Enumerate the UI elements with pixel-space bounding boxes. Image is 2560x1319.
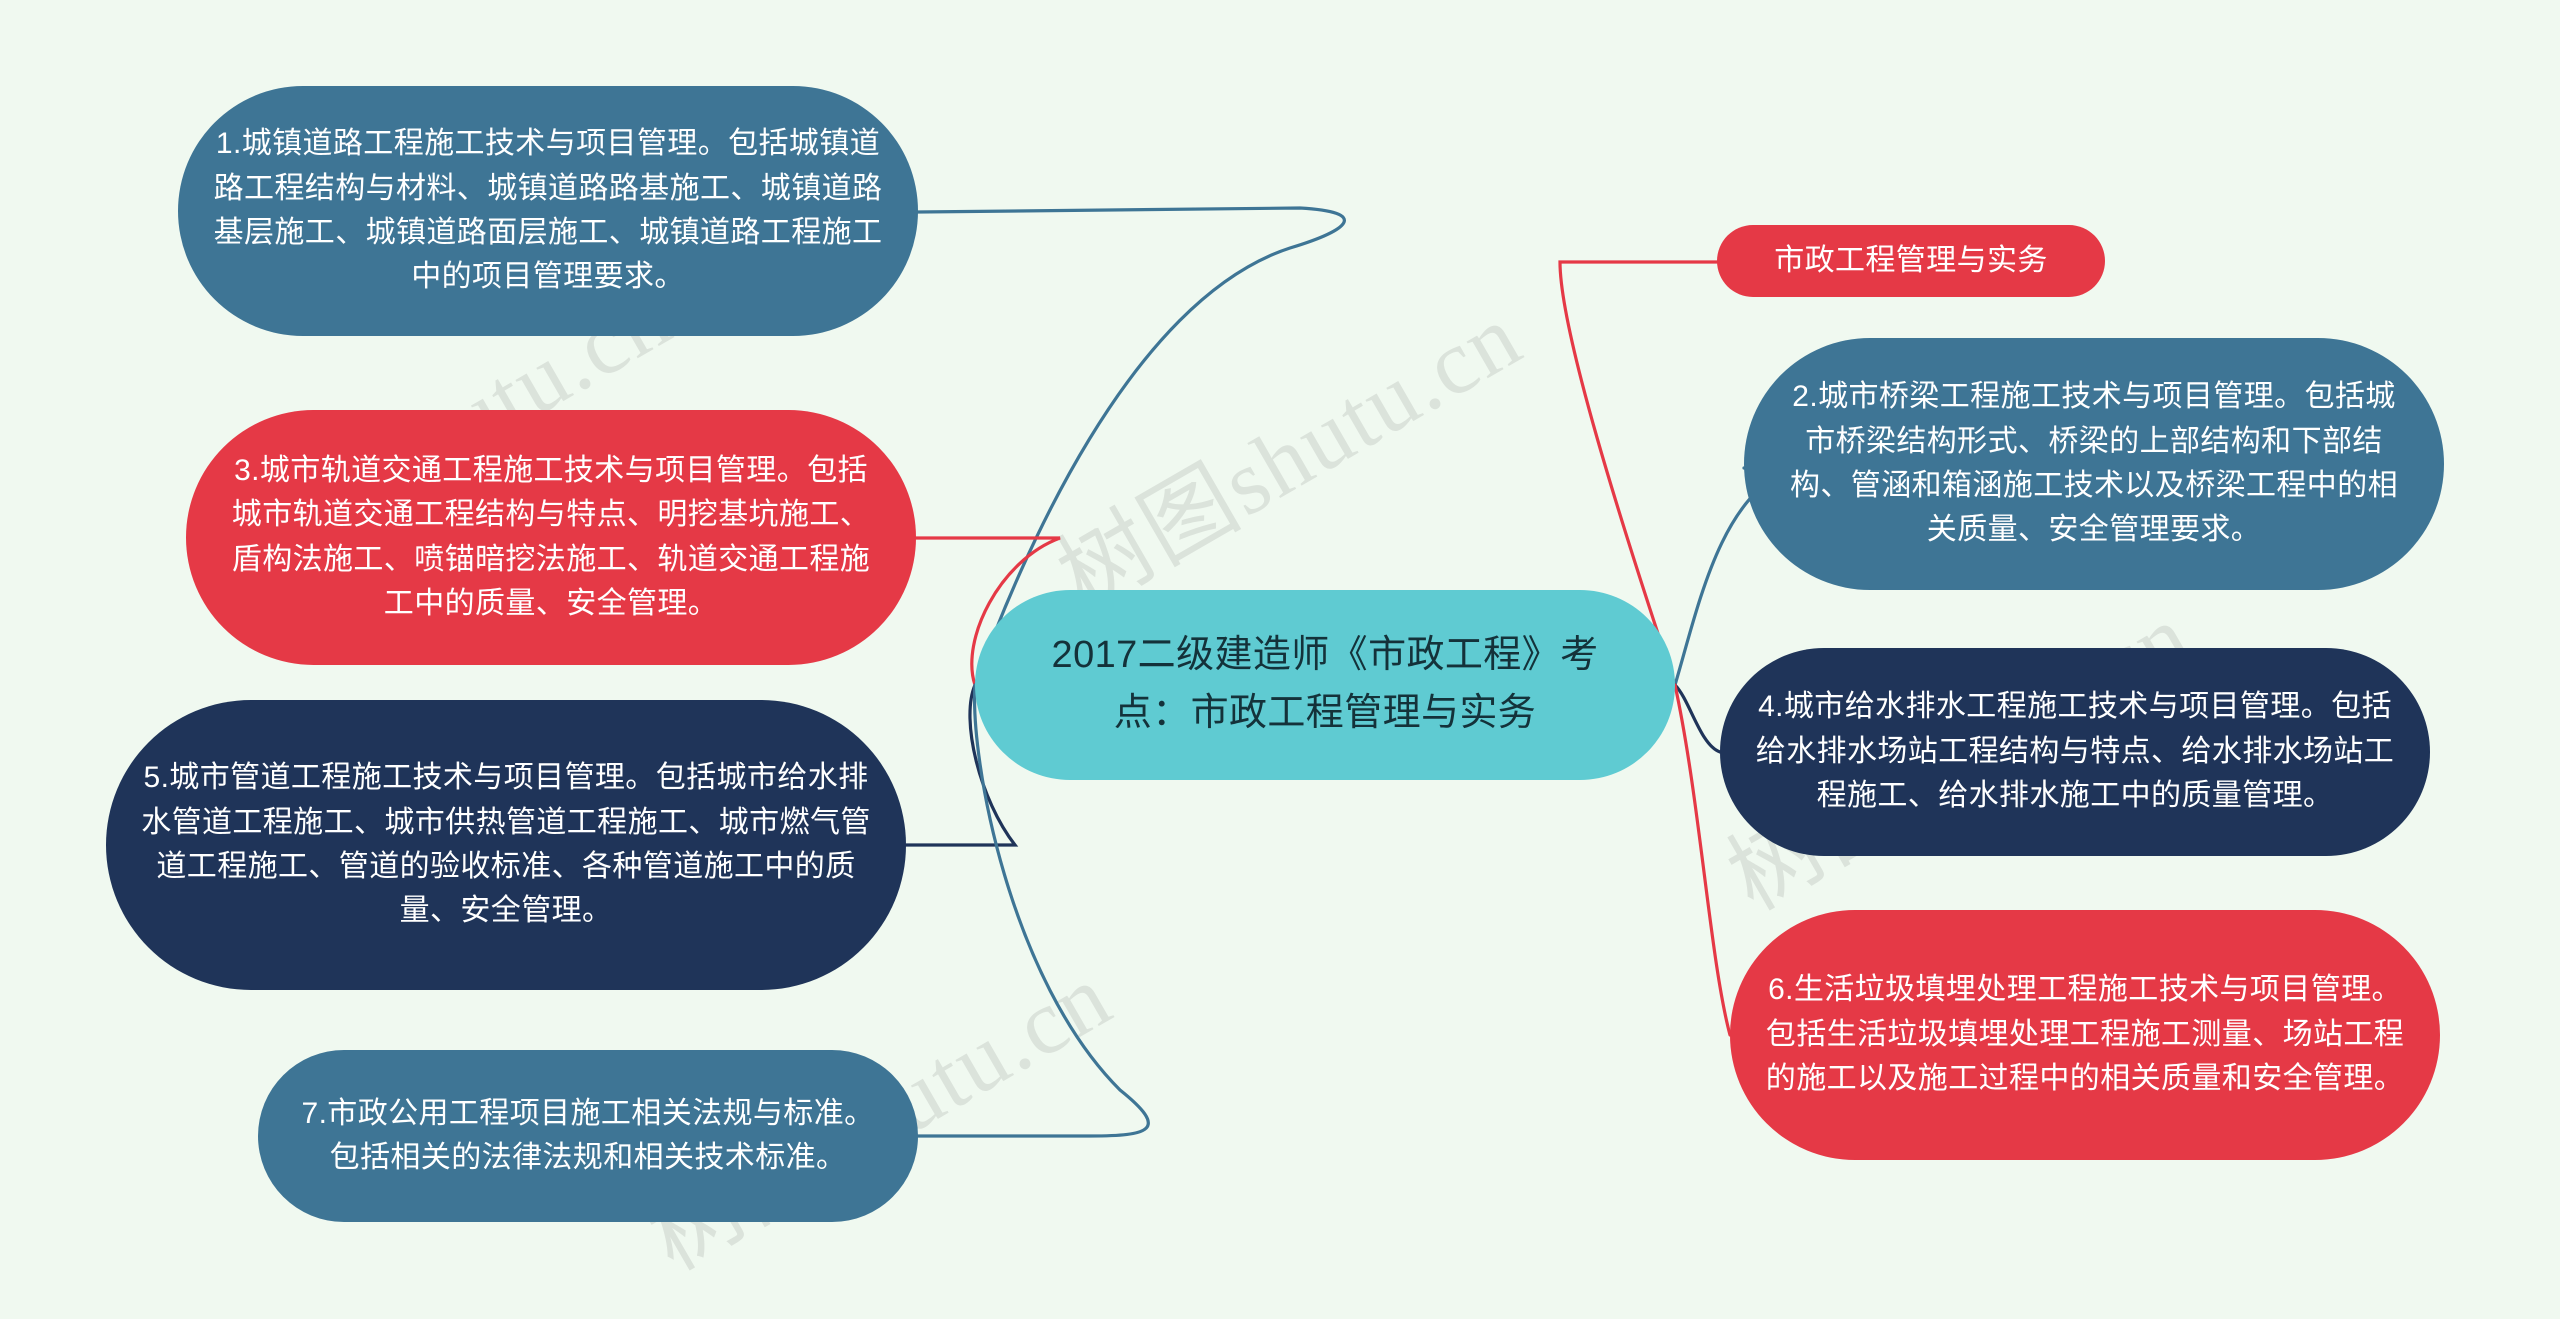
branch-node-3-label: 3.城市轨道交通工程施工技术与项目管理。包括城市轨道交通工程结构与特点、明挖基坑… bbox=[220, 449, 882, 627]
branch-node-6-label: 6.生活垃圾填埋处理工程施工技术与项目管理。包括生活垃圾填埋处理工程施工测量、场… bbox=[1764, 968, 2406, 1101]
branch-node-6[interactable]: 6.生活垃圾填埋处理工程施工技术与项目管理。包括生活垃圾填埋处理工程施工测量、场… bbox=[1730, 910, 2440, 1160]
center-node-label: 2017二级建造师《市政工程》考点：市政工程管理与实务 bbox=[1023, 627, 1627, 743]
branch-node-4-label: 4.城市给水排水工程施工技术与项目管理。包括给水排水场站工程结构与特点、给水排水… bbox=[1754, 685, 2396, 818]
branch-node-5[interactable]: 5.城市管道工程施工技术与项目管理。包括城市给水排水管道工程施工、城市供热管道工… bbox=[106, 700, 906, 990]
branch-node-1[interactable]: 1.城镇道路工程施工技术与项目管理。包括城镇道路工程结构与材料、城镇道路路基施工… bbox=[178, 86, 918, 336]
watermark-text: 树图shutu.cn bbox=[1030, 263, 1541, 635]
branch-node-1-label: 1.城镇道路工程施工技术与项目管理。包括城镇道路工程结构与材料、城镇道路路基施工… bbox=[212, 122, 884, 300]
branch-node-7[interactable]: 7.市政公用工程项目施工相关法规与标准。包括相关的法律法规和相关技术标准。 bbox=[258, 1050, 918, 1222]
branch-node-2-label: 2.城市桥梁工程施工技术与项目管理。包括城市桥梁结构形式、桥梁的上部结构和下部结… bbox=[1778, 375, 2410, 553]
branch-node-3[interactable]: 3.城市轨道交通工程施工技术与项目管理。包括城市轨道交通工程结构与特点、明挖基坑… bbox=[186, 410, 916, 665]
branch-node-4[interactable]: 4.城市给水排水工程施工技术与项目管理。包括给水排水场站工程结构与特点、给水排水… bbox=[1720, 648, 2430, 856]
branch-node-2[interactable]: 2.城市桥梁工程施工技术与项目管理。包括城市桥梁结构形式、桥梁的上部结构和下部结… bbox=[1744, 338, 2444, 590]
branch-node-subject-label[interactable]: 市政工程管理与实务 bbox=[1717, 225, 2105, 297]
mindmap-canvas: 树图shutu.cn 树图shutu.cn 树图shutu.cn 树图shutu… bbox=[0, 0, 2560, 1319]
center-node[interactable]: 2017二级建造师《市政工程》考点：市政工程管理与实务 bbox=[975, 590, 1675, 780]
edge-center-node-4 bbox=[1675, 685, 1720, 752]
branch-node-5-label: 5.城市管道工程施工技术与项目管理。包括城市给水排水管道工程施工、城市供热管道工… bbox=[140, 756, 872, 934]
branch-node-7-label: 7.市政公用工程项目施工相关法规与标准。包括相关的法律法规和相关技术标准。 bbox=[292, 1092, 884, 1181]
branch-node-subject-label-text: 市政工程管理与实务 bbox=[1743, 239, 2079, 283]
